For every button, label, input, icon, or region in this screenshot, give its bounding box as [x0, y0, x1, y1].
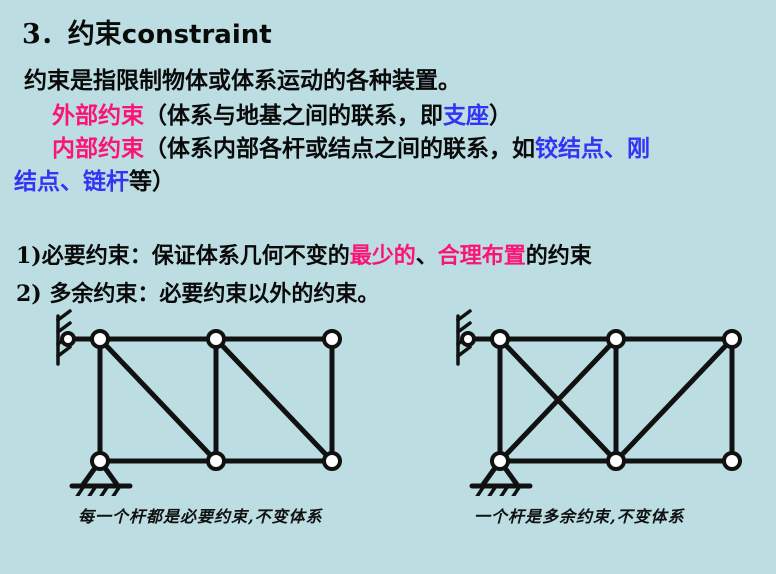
figure-truss-necessary	[48, 306, 348, 500]
internal-constraint-line: 内部约束（体系内部各杆或结点之间的联系，如铰结点、刚	[52, 138, 650, 161]
node-top-right	[724, 331, 740, 347]
node-bottom-left	[492, 453, 508, 469]
external-constraint-term: 外部约束	[52, 103, 144, 129]
definition-line: 约束是指限制物体或体系运动的各种装置。	[24, 70, 461, 93]
figure-caption-right: 一个杆是多余约束,不变体系	[474, 503, 685, 527]
page-title: 3．约束constraint	[22, 12, 272, 51]
external-constraint-highlight: 支座	[443, 103, 489, 129]
node-top-left	[492, 331, 508, 347]
item1-label: 1)必要约束：	[16, 243, 152, 269]
node-support-pin	[462, 333, 474, 345]
internal-constraint-line-cont: 结点、链杆等）	[14, 171, 175, 194]
node-top-mid	[208, 331, 224, 347]
title-chinese: 约束	[68, 19, 122, 50]
external-constraint-open: （体系与地基之间的联系，即	[144, 103, 443, 129]
item1-pre: 保证体系几何不变的	[152, 243, 350, 269]
truss-diagram-left	[48, 306, 348, 496]
node-top-right	[324, 331, 340, 347]
list-item-redundant-constraint: 2) 多余约束：必要约束以外的约束。	[16, 276, 379, 308]
title-latin: constraint	[122, 20, 272, 50]
truss-diagram-right	[438, 306, 748, 496]
list-item-necessary-constraint: 1)必要约束：保证体系几何不变的最少的、合理布置的约束	[16, 238, 592, 270]
node-bottom-left	[92, 453, 108, 469]
item1-post: 的约束	[526, 243, 592, 269]
node-bottom-mid	[208, 453, 224, 469]
title-number: 3．	[22, 19, 68, 50]
item2-label: 2) 多余约束：	[16, 281, 159, 307]
member-diagonal-panel1	[100, 339, 216, 461]
node-bottom-right	[324, 453, 340, 469]
external-constraint-line: 外部约束（体系与地基之间的联系，即支座）	[52, 105, 512, 128]
node-bottom-right	[724, 453, 740, 469]
node-top-mid	[608, 331, 624, 347]
figure-truss-redundant	[438, 306, 748, 500]
internal-constraint-tail: 等）	[129, 169, 175, 195]
internal-constraint-highlight-2: 结点、链杆	[14, 169, 129, 195]
member-diagonal-panel2	[616, 339, 732, 461]
item1-highlight-b: 合理布置	[438, 243, 526, 269]
internal-constraint-term: 内部约束	[52, 136, 144, 162]
external-constraint-close: ）	[489, 103, 512, 129]
item1-highlight-a: 最少的	[350, 243, 416, 269]
item2-text: 必要约束以外的约束。	[159, 281, 379, 307]
node-top-left	[92, 331, 108, 347]
node-support-pin	[62, 333, 74, 345]
slide-canvas: 3．约束constraint 约束是指限制物体或体系运动的各种装置。 外部约束（…	[0, 0, 776, 574]
figure-caption-left: 每一个杆都是必要约束,不变体系	[78, 503, 323, 527]
node-bottom-mid	[608, 453, 624, 469]
internal-constraint-highlight-1: 铰结点、刚	[535, 136, 650, 162]
member-diagonal-panel2	[216, 339, 332, 461]
definition-text: 约束是指限制物体或体系运动的各种装置。	[24, 68, 461, 94]
item1-separator: 、	[416, 243, 438, 269]
internal-constraint-open: （体系内部各杆或结点之间的联系，如	[144, 136, 535, 162]
